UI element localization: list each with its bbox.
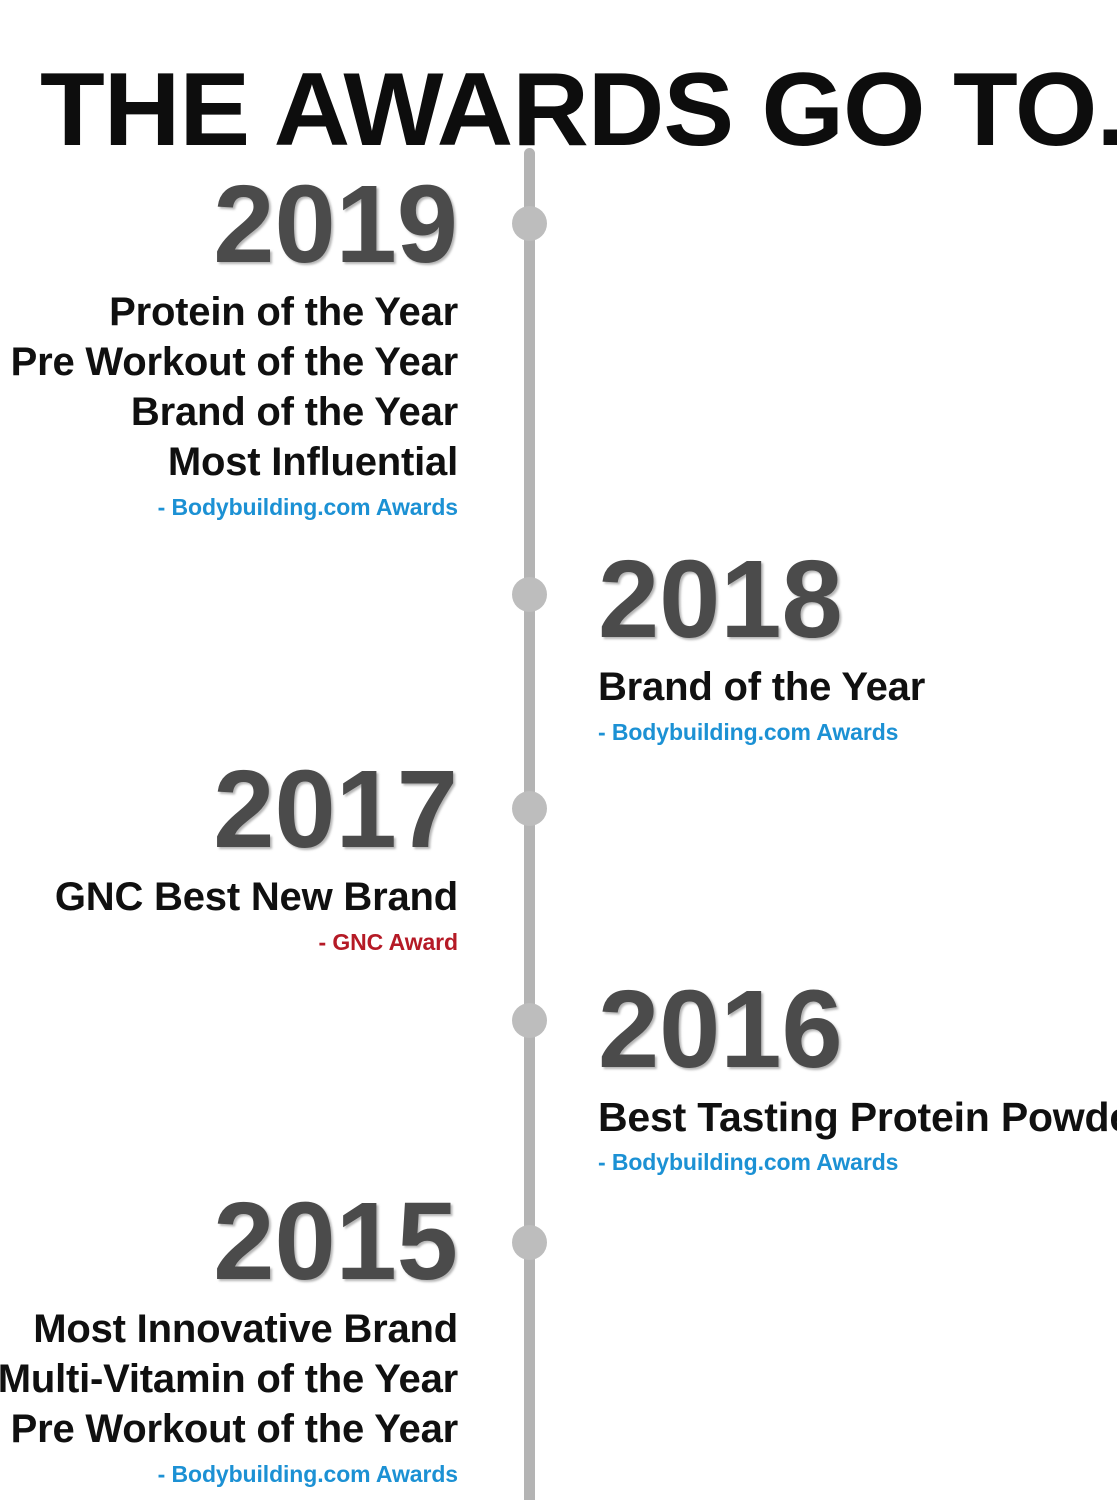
year-label-2018: 2018: [598, 548, 925, 652]
timeline-dot-2017: [512, 791, 547, 826]
timeline-dot-2018: [512, 577, 547, 612]
award-line: Pre Workout of the Year: [0, 1404, 458, 1454]
award-line: Most Influential: [11, 437, 458, 487]
award-source-2019: - Bodybuilding.com Awards: [11, 493, 458, 521]
award-line: Most Innovative Brand: [0, 1304, 458, 1354]
award-source-2017: - GNC Award: [55, 928, 458, 956]
award-source-2018: - Bodybuilding.com Awards: [598, 718, 925, 746]
page-title: THE AWARDS GO TO...: [40, 58, 1101, 158]
award-line: Pre Workout of the Year: [11, 337, 458, 387]
award-line: Brand of the Year: [11, 387, 458, 437]
timeline-dot-2015: [512, 1225, 547, 1260]
awards-timeline-poster: THE AWARDS GO TO... 2019 Protein of the …: [0, 0, 1117, 1500]
awards-list-2015: Most Innovative Brand Multi-Vitamin of t…: [0, 1304, 458, 1454]
timeline-dot-2016: [512, 1003, 547, 1038]
awards-list-2019: Protein of the Year Pre Workout of the Y…: [11, 287, 458, 487]
award-line: Protein of the Year: [11, 287, 458, 337]
award-line: Best Tasting Protein Powder: [598, 1092, 1117, 1142]
award-line: Brand of the Year: [598, 662, 925, 712]
award-entry-2019: 2019 Protein of the Year Pre Workout of …: [11, 173, 458, 521]
award-entry-2017: 2017 GNC Best New Brand - GNC Award: [55, 758, 458, 956]
awards-list-2017: GNC Best New Brand: [55, 872, 458, 922]
award-entry-2018: 2018 Brand of the Year - Bodybuilding.co…: [598, 548, 925, 746]
awards-list-2018: Brand of the Year: [598, 662, 925, 712]
timeline-dot-2019: [512, 206, 547, 241]
year-label-2016: 2016: [598, 978, 1117, 1082]
award-line: GNC Best New Brand: [55, 872, 458, 922]
award-entry-2016: 2016 Best Tasting Protein Powder - Bodyb…: [598, 978, 1117, 1176]
awards-list-2016: Best Tasting Protein Powder: [598, 1092, 1117, 1142]
award-entry-2015: 2015 Most Innovative Brand Multi-Vitamin…: [0, 1190, 458, 1488]
award-line: Multi-Vitamin of the Year: [0, 1354, 458, 1404]
year-label-2015: 2015: [0, 1190, 458, 1294]
award-source-2015: - Bodybuilding.com Awards: [0, 1460, 458, 1488]
year-label-2017: 2017: [55, 758, 458, 862]
year-label-2019: 2019: [11, 173, 458, 277]
award-source-2016: - Bodybuilding.com Awards: [598, 1148, 1117, 1176]
